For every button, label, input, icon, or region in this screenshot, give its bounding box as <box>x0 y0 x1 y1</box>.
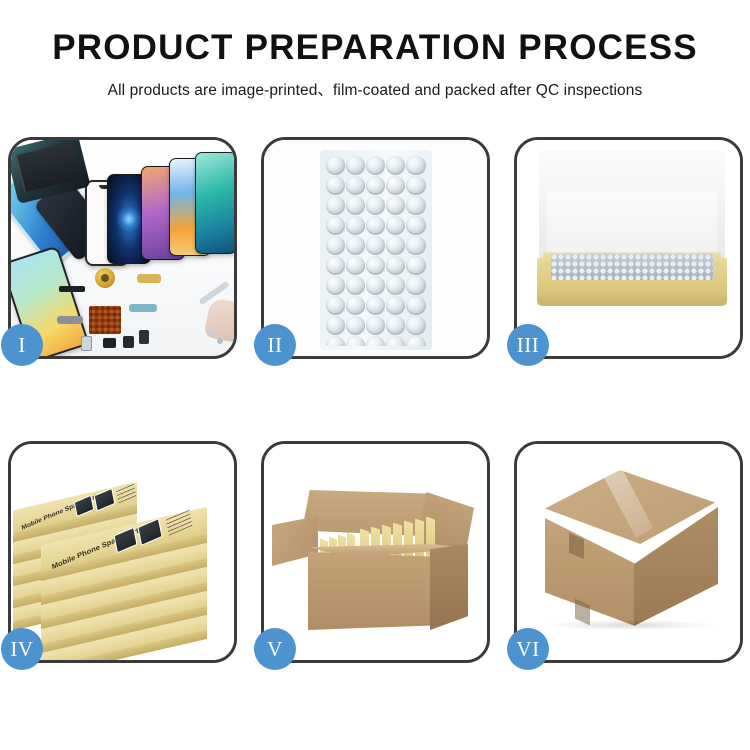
bubble <box>346 336 365 346</box>
box-spec-lines <box>116 482 137 504</box>
part-chip-dark-1 <box>103 338 116 348</box>
bubble <box>366 336 385 346</box>
part-wireless-charging-coil <box>95 268 115 288</box>
bubble <box>366 316 385 335</box>
bubble <box>326 256 345 275</box>
bubble <box>346 196 365 215</box>
process-step-1: I <box>8 137 237 359</box>
inner-yellow-box <box>404 521 413 562</box>
bubble <box>326 296 345 315</box>
step-badge-6: VI <box>507 628 549 670</box>
process-step-6: VI <box>514 441 743 663</box>
bubble <box>386 276 405 295</box>
bubble <box>386 156 405 175</box>
phones-and-parts-illustration <box>11 140 234 356</box>
panel-image-4: Mobile Phone Spare Parts <box>11 444 234 660</box>
bubble <box>326 216 345 235</box>
step-badge-4: IV <box>1 628 43 670</box>
bubble <box>326 316 345 335</box>
bubble <box>326 196 345 215</box>
bubble <box>386 216 405 235</box>
step-badge-1: I <box>1 324 43 366</box>
bubble <box>386 236 405 255</box>
bubble <box>406 156 425 175</box>
bubble <box>406 276 425 295</box>
bubble <box>326 176 345 195</box>
bubble <box>326 336 345 346</box>
bubble <box>406 216 425 235</box>
bubble <box>366 276 385 295</box>
bubble <box>366 196 385 215</box>
panel-image-1 <box>11 140 234 356</box>
page-subtitle: All products are image-printed、film-coat… <box>0 78 750 100</box>
carton-front-face <box>308 552 436 630</box>
process-step-grid: I II <box>8 137 742 663</box>
bubble <box>406 336 425 346</box>
sealed-carton-illustration <box>517 444 740 660</box>
bubble <box>346 256 365 275</box>
part-screw-2 <box>217 338 223 344</box>
bubble-wrapped-bundle <box>551 254 713 280</box>
bubble <box>406 316 425 335</box>
open-kraft-box-illustration <box>517 140 740 356</box>
box-screen-swatch <box>74 495 95 518</box>
part-flex-cable-grey <box>57 316 83 324</box>
bubble <box>346 276 365 295</box>
process-step-3: III <box>514 137 743 359</box>
box-screen-swatch <box>94 488 116 512</box>
box-screen-swatch <box>113 527 137 554</box>
carton-shadow <box>547 620 713 630</box>
part-battery-connector <box>139 330 149 344</box>
process-step-4: Mobile Phone Spare Parts <box>8 441 237 663</box>
step-badge-2: II <box>254 324 296 366</box>
stacked-boxes-illustration: Mobile Phone Spare Parts <box>11 444 234 660</box>
box-stack: Mobile Phone Spare Parts <box>11 444 234 660</box>
bubble <box>346 176 365 195</box>
part-sim-tray <box>81 336 92 351</box>
panel-image-6 <box>517 444 740 660</box>
bubble <box>366 236 385 255</box>
part-flex-cable-gold <box>137 274 161 283</box>
panel-image-5 <box>264 444 487 660</box>
part-earpiece-mesh <box>59 286 85 292</box>
bubble <box>326 276 345 295</box>
bubble-wrap-bag <box>320 150 432 350</box>
bubble-grid <box>326 156 426 346</box>
bubble <box>406 296 425 315</box>
bubble <box>346 316 365 335</box>
inner-yellow-box <box>415 519 424 560</box>
bubble <box>346 236 365 255</box>
page-title: PRODUCT PREPARATION PROCESS <box>0 30 750 65</box>
phone-teal-gradient-screen <box>195 152 234 254</box>
open-carton-illustration <box>264 444 487 660</box>
bubble <box>346 216 365 235</box>
bubble <box>406 256 425 275</box>
bubble <box>406 176 425 195</box>
process-step-5: V <box>261 441 490 663</box>
part-flex-cable-teal <box>129 304 157 312</box>
bubble <box>386 256 405 275</box>
bubble <box>346 296 365 315</box>
bubble <box>386 196 405 215</box>
bubble <box>366 216 385 235</box>
bubble <box>386 296 405 315</box>
box-screen-swatch <box>137 518 162 546</box>
header: PRODUCT PREPARATION PROCESS All products… <box>0 0 750 100</box>
part-chip-dark-2 <box>123 336 134 348</box>
bubble <box>326 236 345 255</box>
part-screw-1 <box>207 330 214 337</box>
carton-side-face <box>430 544 468 630</box>
box-spec-lines <box>166 509 193 536</box>
bubble <box>406 196 425 215</box>
panel-image-2 <box>264 140 487 356</box>
part-copper-contact-grid <box>89 306 121 334</box>
bubble <box>386 336 405 346</box>
bubble <box>366 156 385 175</box>
bubble <box>386 316 405 335</box>
step-badge-5: V <box>254 628 296 670</box>
panel-image-3 <box>517 140 740 356</box>
bubble-wrap-illustration <box>264 140 487 356</box>
infographic-page: PRODUCT PREPARATION PROCESS All products… <box>0 0 750 750</box>
step-badge-3: III <box>507 324 549 366</box>
bubble <box>366 296 385 315</box>
bubble <box>326 156 345 175</box>
process-step-2: II <box>261 137 490 359</box>
bubble <box>366 176 385 195</box>
bubble <box>346 156 365 175</box>
bubble <box>386 176 405 195</box>
bubble <box>366 256 385 275</box>
bubble <box>406 236 425 255</box>
